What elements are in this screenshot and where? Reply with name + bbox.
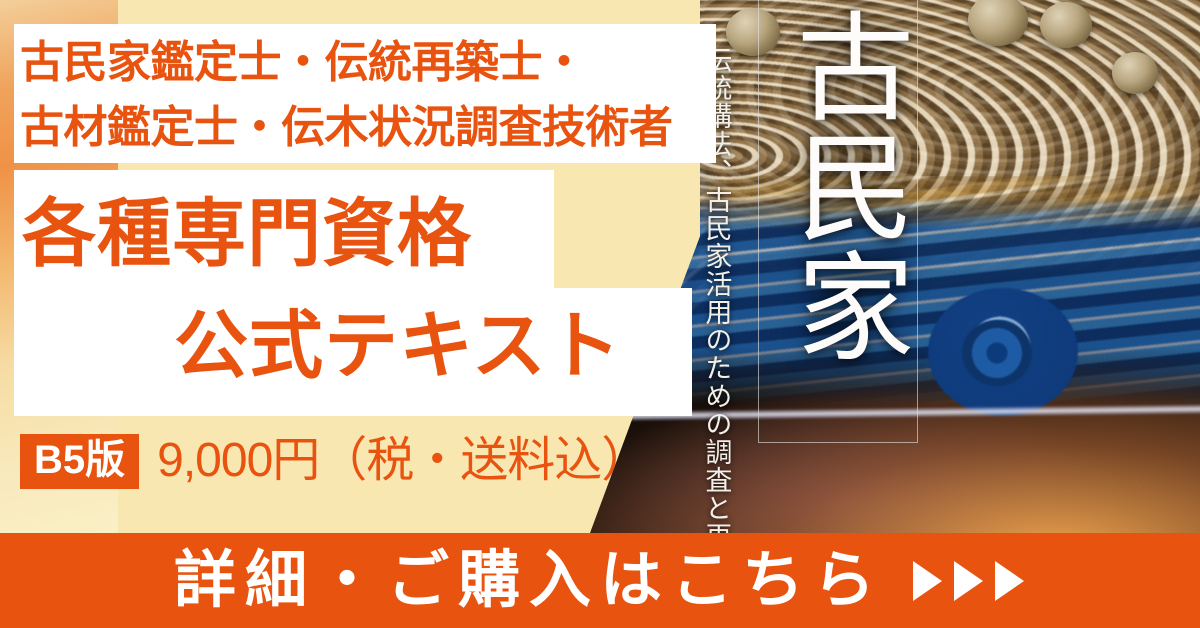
promo-banner: 古民家 伝統構法、古民家活用のための調査と再生の 古民家鑑定士・伝統再築士・ 古…	[0, 0, 1200, 628]
cta-arrows	[910, 559, 1026, 603]
cta-bar[interactable]: 詳細・ご購入はこちら	[0, 533, 1200, 628]
headline-text: 各種専門資格 公式テキスト	[22, 178, 694, 403]
headline-line-1: 各種専門資格	[22, 192, 472, 275]
qualifications-text: 古民家鑑定士・伝統再築士・ 古材鑑定士・伝木状況調査技術者	[20, 30, 720, 160]
headline-line-2: 公式テキスト	[22, 290, 694, 402]
cta-label: 詳細・ご購入はこちら	[174, 550, 884, 612]
qualifications-line-2: 古材鑑定士・伝木状況調査技術者	[20, 95, 720, 160]
price-amount: 9,000円（税・送料込）	[157, 437, 648, 485]
price-row: B5版 9,000円（税・送料込）	[20, 430, 648, 492]
triangle-right-icon	[910, 559, 944, 603]
triangle-right-icon	[951, 559, 985, 603]
format-badge: B5版	[20, 434, 139, 489]
book-cover-title: 古民家	[770, 6, 906, 366]
qualifications-line-1: 古民家鑑定士・伝統再築士・	[20, 30, 720, 95]
triangle-right-icon	[992, 559, 1026, 603]
